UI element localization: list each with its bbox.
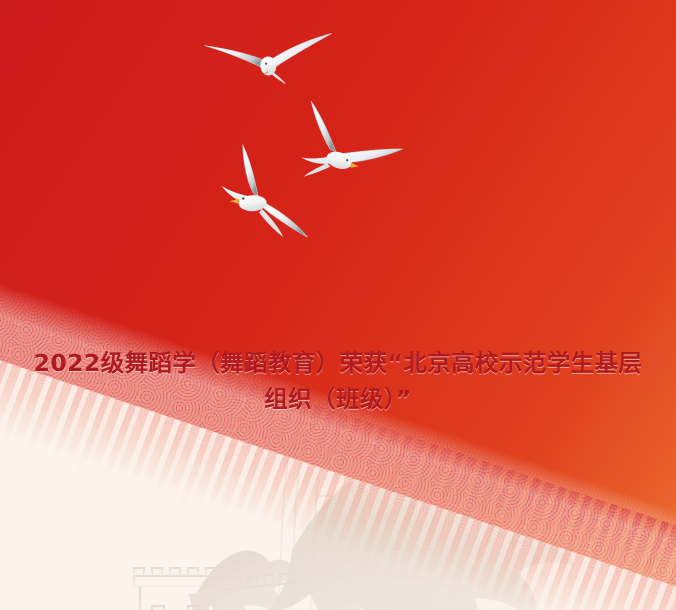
poster-canvas: 2022级舞蹈学（舞蹈教育）荣获“北京高校示范学生基层 组织（班级）” <box>0 0 676 610</box>
seagull-top <box>204 33 336 91</box>
flying-seagulls <box>0 0 676 610</box>
seagull-lower <box>214 142 321 241</box>
page-title: 2022级舞蹈学（舞蹈教育）荣获“北京高校示范学生基层 组织（班级）” <box>0 345 676 417</box>
seagull-middle <box>299 101 406 187</box>
